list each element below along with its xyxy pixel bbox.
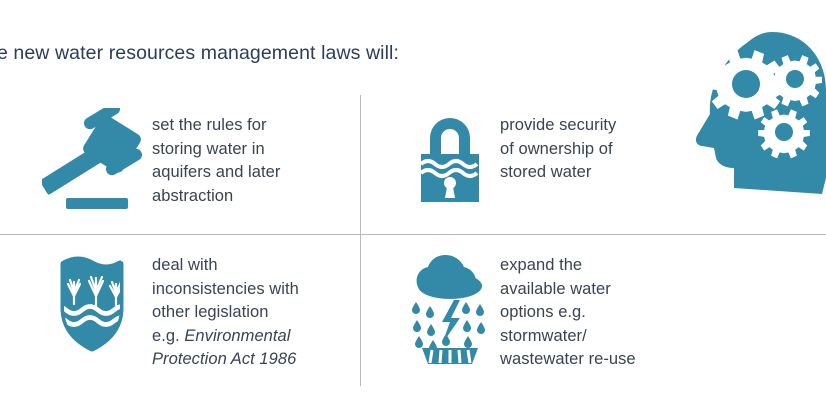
horizontal-divider	[0, 234, 826, 235]
gavel-icon	[42, 108, 150, 214]
page-title: he new water resources management laws w…	[0, 40, 506, 66]
text-line: stored water	[500, 161, 616, 185]
vertical-divider	[360, 95, 361, 386]
text-line: wastewater re-use	[500, 348, 636, 372]
text-line-legislation: e.g. Environmental Protection Act 1986	[152, 325, 360, 372]
quadrant-top-right-text: provide security of ownership of stored …	[500, 108, 616, 185]
quadrant-top-right: provide security of ownership of stored …	[400, 108, 700, 206]
rain-cloud-drain-icon	[406, 248, 494, 364]
shield-wetland-icon-wrap	[40, 248, 152, 354]
text-line: of ownership of	[500, 138, 616, 162]
text-line: expand the	[500, 254, 636, 278]
text-line: set the rules for	[152, 114, 280, 138]
text-line: inconsistencies with	[152, 278, 360, 302]
padlock-water-icon-wrap	[400, 108, 500, 206]
text-line: other legislation	[152, 301, 360, 325]
eg-prefix: e.g.	[152, 327, 184, 345]
text-line: abstraction	[152, 185, 280, 209]
quadrant-top-left-text: set the rules for storing water in aquif…	[152, 108, 280, 208]
quadrant-top-left: set the rules for storing water in aquif…	[40, 108, 360, 214]
text-line: deal with	[152, 254, 360, 278]
text-line: options e.g.	[500, 301, 636, 325]
head-with-gears-icon-wrap	[676, 28, 826, 200]
quadrant-bottom-right-text: expand the available water options e.g. …	[500, 248, 636, 372]
gavel-icon-wrap	[40, 108, 152, 214]
quadrant-bottom-left-text: deal with inconsistencies with other leg…	[152, 248, 360, 372]
padlock-water-icon	[413, 108, 487, 206]
quadrant-bottom-right: expand the available water options e.g. …	[400, 248, 700, 372]
text-line: storing water in	[152, 138, 280, 162]
text-line: aquifers and later	[152, 161, 280, 185]
head-with-gears-icon	[676, 28, 826, 200]
text-line: stormwater/	[500, 325, 636, 349]
text-line: provide security	[500, 114, 616, 138]
infographic-canvas: he new water resources management laws w…	[0, 0, 826, 413]
rain-cloud-drain-icon-wrap	[400, 248, 500, 364]
shield-wetland-icon	[48, 248, 144, 354]
quadrant-bottom-left: deal with inconsistencies with other leg…	[40, 248, 360, 372]
text-line: available water	[500, 278, 636, 302]
